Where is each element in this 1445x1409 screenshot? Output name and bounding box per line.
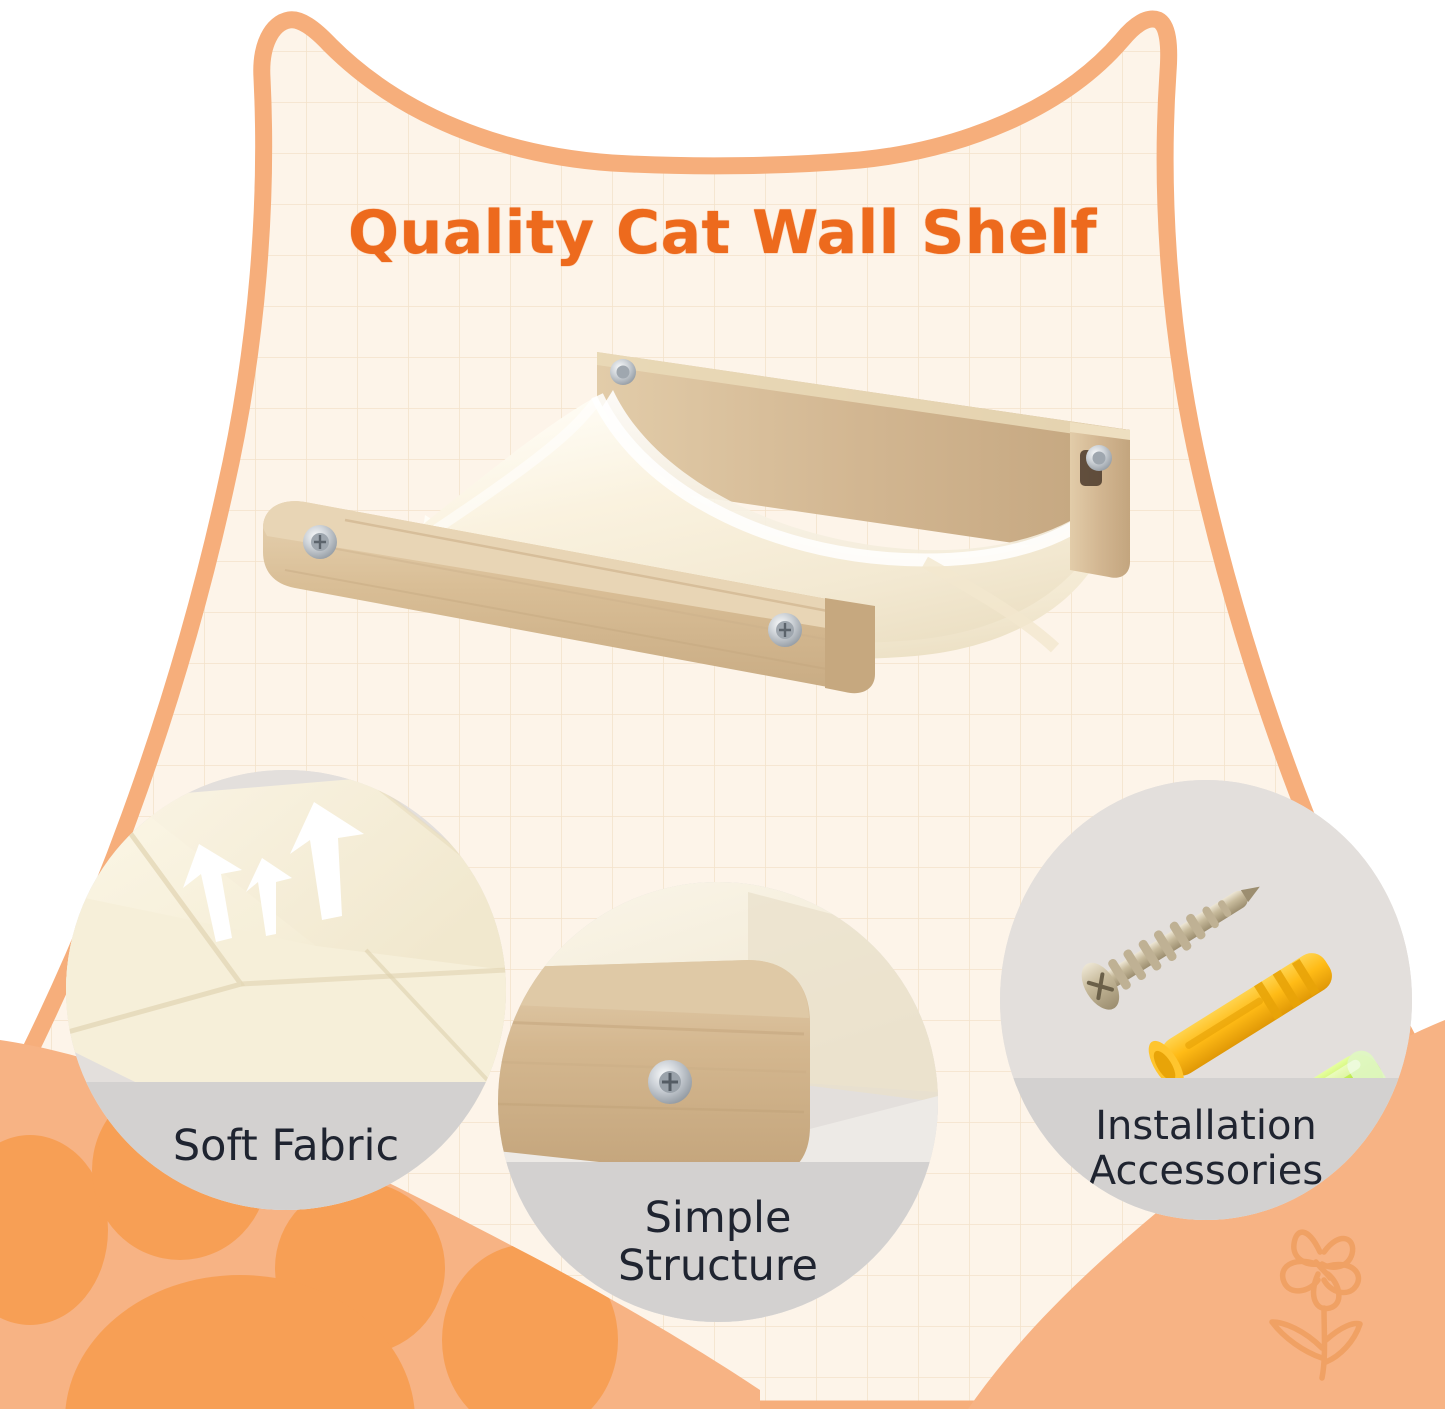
- flower-doodle-icon: [1258, 1212, 1388, 1387]
- feature-caption: Soft Fabric: [173, 1122, 399, 1170]
- hero-product-image: [225, 330, 1205, 740]
- screw-icon: [648, 1060, 692, 1104]
- feature-caption-band: Installation Accessories: [1000, 1078, 1412, 1220]
- feature-caption-band: Soft Fabric: [66, 1082, 506, 1210]
- hero-rail-endcap: [825, 598, 875, 693]
- screw-icon: [1086, 445, 1112, 471]
- screw-icon: [303, 525, 337, 559]
- feature-card-installation-accessories: Installation Accessories: [1000, 780, 1412, 1220]
- feature-caption-band: Simple Structure: [498, 1162, 938, 1322]
- infographic-canvas: Quality Cat Wall Shelf: [0, 0, 1445, 1409]
- screw-icon: [610, 359, 636, 385]
- feature-caption: Simple Structure: [618, 1194, 818, 1290]
- screw-icon: [768, 613, 802, 647]
- feature-card-soft-fabric: Soft Fabric: [66, 770, 506, 1210]
- feature-card-simple-structure: Simple Structure: [498, 882, 938, 1322]
- page-title: Quality Cat Wall Shelf: [0, 198, 1445, 268]
- feature-caption: Installation Accessories: [1089, 1104, 1323, 1194]
